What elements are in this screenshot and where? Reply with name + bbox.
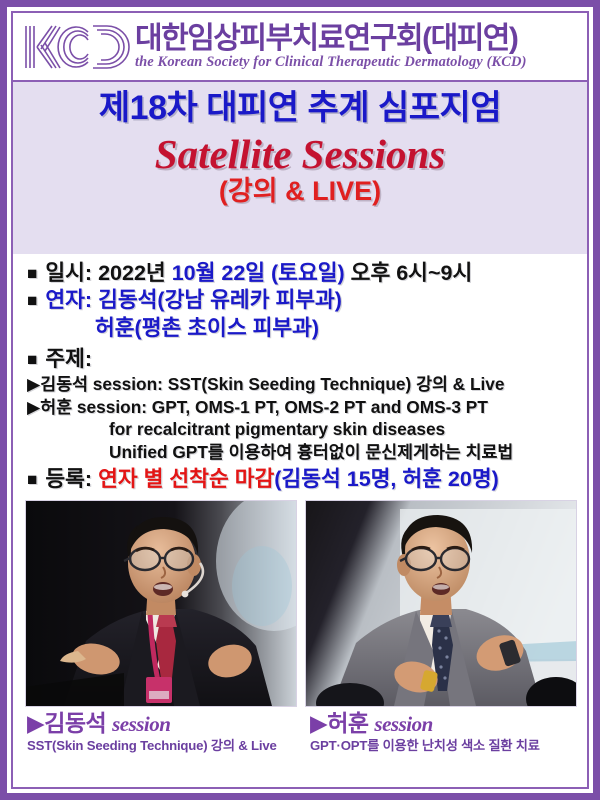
poster-body: ■ 일시: 2022년 10월 22일 (토요일) 오후 6시~9시 ■ 연자:…: [13, 254, 587, 787]
info-block: ■ 일시: 2022년 10월 22일 (토요일) 오후 6시~9시 ■ 연자:…: [13, 260, 587, 494]
speaker-line-2: 허훈(평촌 초이스 피부과): [27, 315, 577, 343]
photo-heo-hoon: [305, 500, 577, 707]
bullet-square-icon: ■: [27, 349, 39, 369]
arrow-icon: ▶: [27, 374, 40, 394]
caption-subtitle: GPT·OPT를 이용한 난치성 색소 질환 치료: [310, 738, 577, 754]
bullet-square-icon: ■: [27, 290, 39, 310]
date-label: 일시:: [45, 261, 92, 285]
topic-item-2-cont-1: for recalcitrant pigmentary skin disease…: [27, 418, 577, 440]
registration-line: ■ 등록: 연자 별 선착순 마감(김동석 15명, 허훈 20명): [27, 466, 577, 494]
poster-inner-frame: 대한임상피부치료연구회(대피연) the Korean Society for …: [11, 11, 589, 789]
registration-label: 등록:: [45, 467, 92, 491]
arrow-icon: ▶: [27, 710, 44, 736]
speaker-two: 허훈(평촌 초이스 피부과): [95, 316, 319, 340]
speaker-label: 연자:: [45, 288, 92, 312]
symposium-title-english: Satellite Sessions: [155, 133, 445, 176]
caption-title: ▶김동석 session: [27, 711, 294, 737]
symposium-title-korean: 제18차 대피연 추계 심포지엄: [99, 89, 501, 127]
title-band: 제18차 대피연 추계 심포지엄 Satellite Sessions (강의 …: [13, 82, 587, 254]
caption-speaker-name: 허훈: [327, 710, 368, 736]
bullet-square-icon: ■: [27, 469, 39, 489]
bullet-square-icon: ■: [27, 263, 39, 283]
topic-label: 주제:: [45, 347, 92, 371]
kcd-logo-icon: [21, 20, 133, 76]
symposium-subtitle: (강의 & LIVE): [219, 177, 381, 205]
caption-speaker-name: 김동석: [44, 710, 106, 736]
caption-session-label: session: [374, 712, 432, 736]
arrow-icon: ▶: [27, 397, 40, 417]
speaker-photos: [13, 494, 587, 707]
topic-item-1: ▶김동석 session: SST(Skin Seeding Technique…: [27, 373, 577, 395]
date-year: 2022년: [98, 261, 166, 285]
org-name-korean: 대한임상피부치료연구회(대피연): [135, 24, 517, 55]
photo-kim-dongseok: [25, 500, 297, 707]
topic-item-2-cont-2: Unified GPT를 이용하여 흉터없이 문신제게하는 치료법: [27, 441, 577, 463]
date-line: ■ 일시: 2022년 10월 22일 (토요일) 오후 6시~9시: [27, 260, 577, 287]
registration-highlight: 연자 별 선착순 마감: [98, 467, 274, 491]
topic-item-1-text: 김동석 session: SST(Skin Seeding Technique)…: [40, 374, 504, 394]
org-name-english: the Korean Society for Clinical Therapeu…: [135, 55, 527, 71]
poster-header: 대한임상피부치료연구회(대피연) the Korean Society for …: [13, 13, 587, 82]
speaker-line: ■ 연자: 김동석(강남 유레카 피부과): [27, 287, 577, 315]
caption-session-label: session: [112, 712, 170, 736]
arrow-icon: ▶: [310, 710, 327, 736]
topic-heading: ■ 주제:: [27, 346, 577, 374]
date-time: 오후 6시~9시: [351, 261, 473, 285]
poster: 대한임상피부치료연구회(대피연) the Korean Society for …: [0, 0, 600, 800]
caption-subtitle: SST(Skin Seeding Technique) 강의 & Live: [27, 738, 294, 754]
caption-kim-dongseok: ▶김동석 session SST(Skin Seeding Technique)…: [27, 711, 294, 754]
caption-title: ▶허훈 session: [310, 711, 577, 737]
topic-item-2-text: 허훈 session: GPT, OMS-1 PT, OMS-2 PT and …: [40, 397, 488, 417]
registration-detail: (김동석 15명, 허훈 20명): [274, 467, 499, 491]
topic-item-2: ▶허훈 session: GPT, OMS-1 PT, OMS-2 PT and…: [27, 396, 577, 418]
organization-name-block: 대한임상피부치료연구회(대피연) the Korean Society for …: [133, 24, 581, 72]
speaker-one: 김동석(강남 유레카 피부과): [98, 288, 342, 312]
date-highlight: 10월 22일 (토요일): [172, 261, 345, 285]
photo-captions: ▶김동석 session SST(Skin Seeding Technique)…: [13, 707, 587, 754]
caption-heo-hoon: ▶허훈 session GPT·OPT를 이용한 난치성 색소 질환 치료: [294, 711, 577, 754]
